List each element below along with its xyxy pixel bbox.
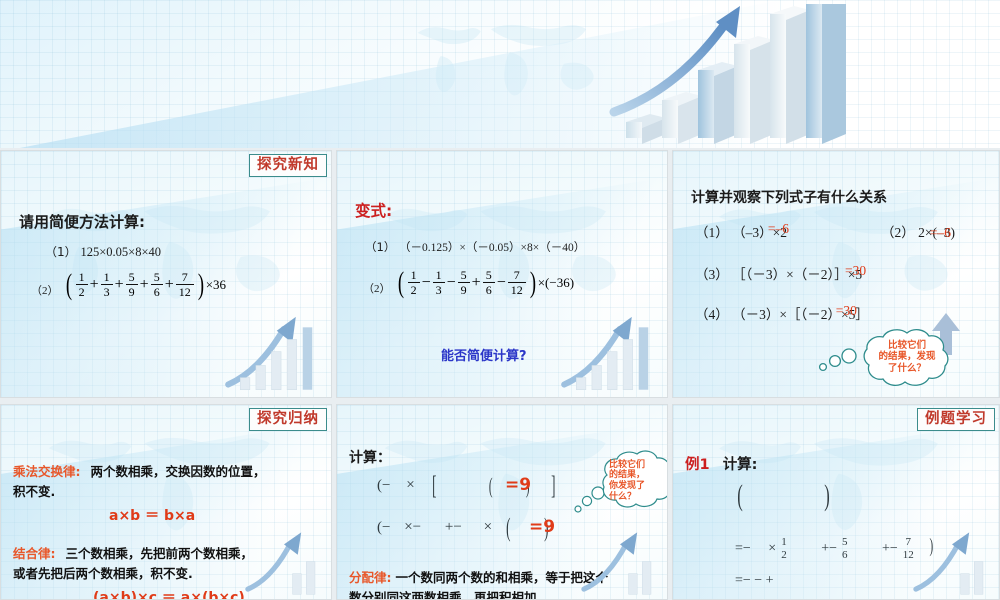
explore-item2-expr: ( 12 + 13 + 59 + 56 + 712 ) ×36 (64, 271, 226, 298)
law-distributive-line1: 分配律: 一个数同两个数的和相乘，等于把这个 (349, 567, 608, 586)
growth-bar-chart-icon (559, 301, 663, 397)
observe-row-4-body: （－3）×［（－2）×5］=30 (732, 303, 869, 323)
observe-row-3-label: （3） (695, 267, 729, 282)
example-term-1-fraction: 1 2 (778, 537, 790, 561)
observe-row-2-answer: =–6 (930, 225, 951, 241)
observe-row-2: （2） 2×(–3)=–6 (881, 221, 955, 241)
law-associative-formula: (a×b)×c ＝ a×(b×c) (93, 587, 245, 599)
fraction-5-6: 56 (151, 271, 163, 298)
growth-bar-chart-icon (909, 519, 995, 599)
minus-2: − (447, 274, 456, 292)
distributive-line-2: (− ×− +− × ( ) (377, 513, 551, 543)
minus-3: − (497, 274, 506, 292)
bubble-line-3: 了什么？ (888, 363, 926, 374)
example-title-label: 例1 (685, 457, 710, 473)
fraction-7-12: 712 (176, 271, 194, 298)
example-line1-close: ) (824, 481, 830, 511)
panel-variant[interactable]: 变式: （1） （－0.125）×（－0.05）×8×（－40） （2） ( 1… (336, 150, 668, 398)
thought-bubble-observe: 比较它们 的结果，发现 了什么？ (815, 323, 965, 391)
law-commutative-line1: 乘法交换律: 两个数相乘，交换因数的位置， (13, 461, 266, 480)
panel-summary[interactable]: 探究归纳 乘法交换律: 两个数相乘，交换因数的位置， 积不变. a×b ＝ b×… (0, 404, 332, 600)
observe-row-1-label: （1） (695, 225, 729, 240)
observe-row-3: （3） ［（－3）×（－2）］×5=30 (695, 263, 862, 283)
variant-question: 能否简便计算? (441, 345, 527, 364)
panel-explore-new[interactable]: 探究新知 请用简便方法计算: （1） 125×0.05×8×40 （2） ( 1… (0, 150, 332, 398)
example-term-2-op: +− (821, 541, 837, 557)
law-commutative-formula: a×b ＝ b×a (109, 505, 195, 525)
variant-item1-label: （1） (365, 240, 395, 254)
observe-row-2-label: （2） (881, 225, 915, 240)
fraction-5-6: 56 (483, 269, 495, 296)
variant-multiplier: ×(−36) (538, 275, 574, 291)
growth-bar-chart-icon (577, 519, 663, 599)
law-distributive-label: 分配律: (349, 570, 392, 585)
line2-frag-5: ( (506, 513, 510, 543)
law-associative-line1: 结合律: 三个数相乘，先把前两个数相乘， (13, 543, 253, 562)
law-commutative-body-2: 积不变. (13, 481, 55, 500)
variant-heading: 变式: (355, 199, 392, 221)
fraction-1-2: 12 (76, 271, 88, 298)
line2-frag-3: +− (445, 519, 462, 535)
plus-4: + (165, 276, 174, 294)
explore-item1: （1） 125×0.05×8×40 (45, 243, 161, 260)
thought-bubble-distributive: 比较它们 的结果， 你发现了 什么？ (573, 435, 667, 527)
example-line2-prefix: =− (735, 541, 751, 556)
example-term-1-op: × (768, 541, 776, 557)
variant-item1: （1） （－0.125）×（－0.05）×8×（－40） (365, 239, 585, 255)
law-associative-body-1: 三个数相乘，先把前两个数相乘， (65, 546, 253, 561)
example-title-text: 计算: (723, 457, 758, 473)
panel-observe[interactable]: 计算并观察下列式子有什么关系 （1） （–3）×2=–6 （2） 2×(–3)=… (672, 150, 1000, 398)
left-paren: ( (397, 271, 403, 294)
example-term-2-num: 5 (839, 537, 851, 549)
variant-item2: （2） ( 12 − 13 − 59 + 56 − 712 ) ×(−36) (363, 269, 574, 296)
distributive-line-1-answer: =9 (505, 475, 531, 495)
variant-item2-expr: ( 12 − 13 − 59 + 56 − 712 ) ×(−36) (396, 269, 574, 296)
observe-row-4: （4） （－3）×［（－2）×5］=30 (695, 303, 869, 323)
explore-item1-label: （1） (45, 245, 77, 259)
observe-row-3-expr: ［（－3）×（－2）］×5 (732, 267, 862, 282)
example-term-2-den: 6 (839, 549, 851, 561)
plus-3: + (140, 276, 149, 294)
example-term-2: +− 5 6 (821, 537, 852, 561)
fraction-1-2: 12 (408, 269, 420, 296)
bubble-line-3: 你发现了 (609, 481, 645, 492)
example-term-1-den: 2 (778, 549, 790, 561)
fraction-1-3: 13 (433, 269, 445, 296)
law-commutative-body-1: 两个数相乘，交换因数的位置， (90, 464, 265, 479)
bubble-line-1: 比较它们 (888, 340, 926, 351)
line1-frag-2: × (406, 477, 414, 493)
banner-header (0, 0, 1000, 148)
line2-frag-1: (− (377, 519, 390, 535)
line2-frag-4: × (484, 519, 492, 535)
right-paren: ) (198, 273, 204, 296)
law-commutative-label: 乘法交换律: (13, 464, 81, 479)
example-line-3: =− − + (735, 573, 774, 589)
observe-row-1-body: （–3）×2=–6 (732, 221, 787, 241)
slide-thumbnail-grid: 探究新知 请用简便方法计算: （1） 125×0.05×8×40 （2） ( 1… (0, 0, 1000, 600)
fraction-7-12: 712 (508, 269, 526, 296)
thought-bubble-text: 比较它们 的结果，发现 了什么？ (861, 331, 953, 383)
line1-frag-4: ( (489, 473, 493, 499)
bubble-line-1: 比较它们 (609, 460, 645, 471)
thought-bubble-text: 比较它们 的结果， 你发现了 什么？ (609, 451, 667, 511)
line2-frag-2: ×− (404, 519, 421, 535)
right-paren: ) (530, 271, 536, 294)
explore-multiplier: ×36 (206, 277, 226, 293)
example-term-2-fraction: 5 6 (839, 537, 851, 561)
growth-bar-chart-icon (241, 519, 327, 599)
observe-row-2-body: 2×(–3)=–6 (918, 225, 955, 241)
plus-2: + (115, 276, 124, 294)
example-line-2: =− × 1 2 +− 5 6 +− (735, 535, 935, 561)
example-line1-open: ( (737, 481, 743, 511)
badge-summary[interactable]: 探究归纳 (249, 408, 327, 431)
distributive-heading: 计算： (349, 447, 391, 467)
law-associative-body-2: 或者先把后两个数相乘，积不变. (13, 563, 193, 582)
variant-item1-expr: （－0.125）×（－0.05）×8×（－40） (399, 242, 585, 254)
badge-example[interactable]: 例题学习 (917, 408, 995, 431)
example-term-1: × 1 2 (768, 537, 791, 561)
line1-frag-6: ] (551, 471, 555, 501)
explore-item2: （2） ( 12 + 13 + 59 + 56 + 712 ) ×36 (31, 271, 226, 298)
badge-explore-new[interactable]: 探究新知 (249, 154, 327, 177)
law-distributive-body-2: 数分别同这两数相乘，再把积相加. (349, 587, 541, 599)
growth-bar-chart-icon (604, 4, 904, 148)
example-term-1-num: 1 (778, 537, 790, 549)
observe-row-4-answer: =30 (836, 303, 857, 319)
explore-item2-label: （2） (31, 285, 59, 297)
observe-heading: 计算并观察下列式子有什么关系 (691, 187, 887, 207)
example-title: 例1 计算: (685, 453, 758, 474)
observe-row-3-body: ［（－3）×（－2）］×5=30 (732, 263, 862, 283)
distributive-line-2-answer: =9 (529, 517, 555, 537)
bubble-line-4: 什么？ (609, 492, 636, 503)
line1-frag-1: (− (377, 477, 390, 493)
panel-distributive[interactable]: 计算： (− × [ ( ) ] =9 (− ×− +− × ( ) =9 (336, 404, 668, 600)
bubble-line-2: 的结果，发现 (878, 351, 935, 362)
explore-item1-expr: 125×0.05×8×40 (80, 245, 161, 259)
fraction-5-9: 59 (126, 271, 138, 298)
line1-frag-3: [ (433, 471, 437, 501)
minus-1: − (422, 274, 431, 292)
example-term-3-op: +− (882, 541, 898, 557)
fraction-5-9: 59 (458, 269, 470, 296)
observe-row-1: （1） （–3）×2=–6 (695, 221, 787, 241)
left-paren: ( (65, 273, 71, 296)
observe-row-3-answer: =30 (845, 263, 866, 279)
law-associative-label: 结合律: (13, 546, 56, 561)
bubble-line-2: 的结果， (609, 470, 645, 481)
fraction-1-3: 13 (101, 271, 113, 298)
panel-example[interactable]: 例题学习 例1 计算: ( ) =− × 1 2 (672, 404, 1000, 600)
plus-1: + (90, 276, 99, 294)
observe-row-4-label: （4） (695, 307, 729, 322)
growth-bar-chart-icon (223, 301, 327, 397)
explore-heading: 请用简便方法计算: (19, 211, 145, 232)
variant-item2-label: （2） (363, 283, 391, 295)
plus-1: + (472, 274, 481, 292)
example-line-1: ( ) (735, 481, 832, 511)
observe-row-1-answer: =–6 (768, 221, 789, 237)
